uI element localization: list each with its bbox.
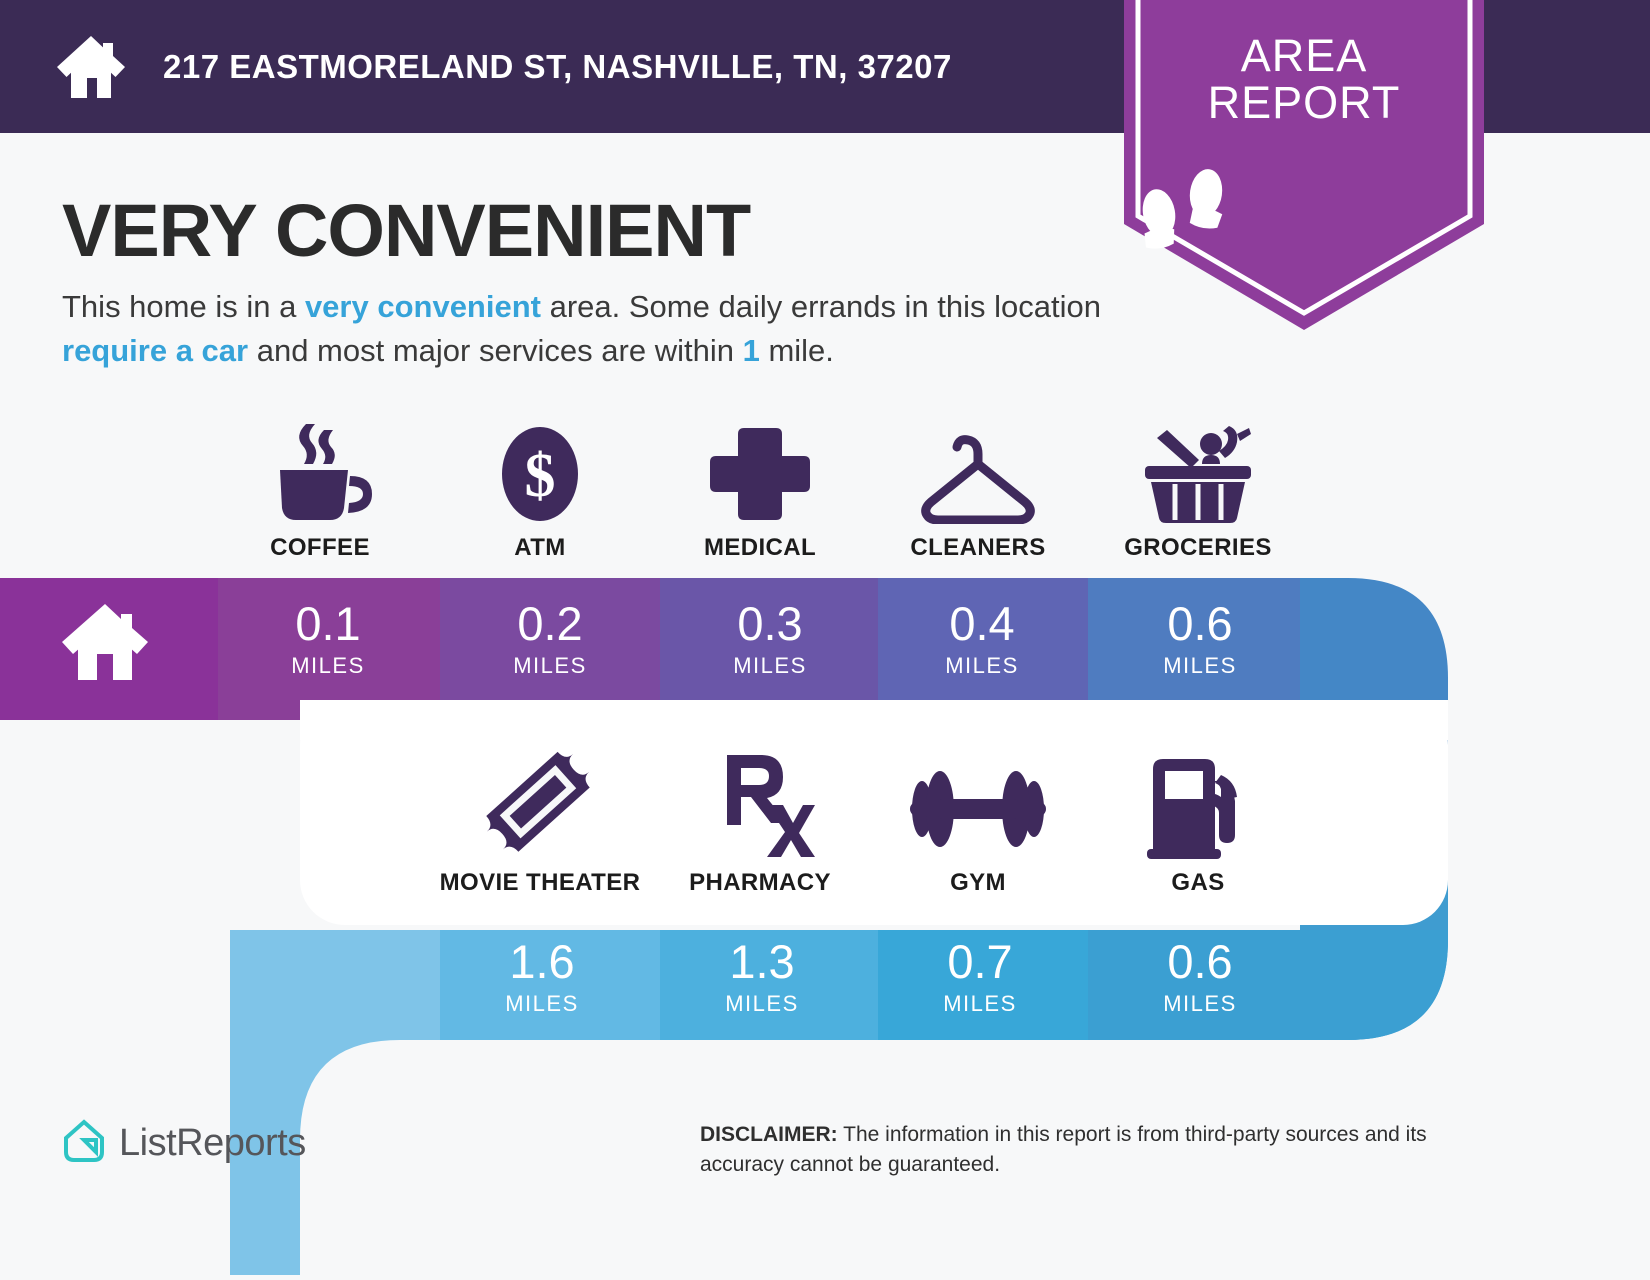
distance-groceries: 0.6 MILES	[1090, 600, 1310, 679]
summary-part-3: and most major services are within	[248, 333, 742, 368]
distance-gas: 0.6 MILES	[1090, 938, 1310, 1017]
amenity-label: MOVIE THEATER	[430, 869, 650, 897]
amenity-icons-row-1: COFFEE $ ATM MEDICAL CLEANERS	[0, 420, 1650, 570]
amenity-label: COFFEE	[210, 534, 430, 562]
listreports-logo-icon	[62, 1118, 106, 1169]
distance-unit: MILES	[432, 991, 652, 1017]
clothes-hanger-icon	[868, 420, 1088, 524]
summary-part-2: area. Some daily errands in this locatio…	[541, 289, 1101, 324]
amenity-icons-row-2: MOVIE THEATER PHARMACY	[0, 755, 1650, 905]
distance-unit: MILES	[1090, 653, 1310, 679]
rx-pharmacy-icon	[650, 755, 870, 859]
distance-value: 1.6	[432, 938, 652, 985]
amenity-cell-movie-theater: MOVIE THEATER	[430, 755, 650, 897]
gas-pump-icon	[1088, 755, 1308, 859]
distance-value: 0.3	[660, 600, 880, 647]
amenity-label: GAS	[1088, 869, 1308, 897]
listreports-logo-text: ListReports	[119, 1122, 306, 1165]
amenity-cell-atm: $ ATM	[430, 420, 650, 562]
summary-part-1: This home is in a	[62, 289, 305, 324]
distance-unit: MILES	[218, 653, 438, 679]
distance-cleaners: 0.4 MILES	[872, 600, 1092, 679]
summary-text: This home is in a very convenient area. …	[62, 285, 1107, 373]
distance-value: 0.1	[218, 600, 438, 647]
amenity-cell-groceries: GROCERIES	[1088, 420, 1308, 562]
distance-unit: MILES	[660, 653, 880, 679]
distance-unit: MILES	[870, 991, 1090, 1017]
medical-cross-icon	[650, 420, 870, 524]
amenity-label: PHARMACY	[650, 869, 870, 897]
amenity-cell-medical: MEDICAL	[650, 420, 870, 562]
coffee-cup-icon	[210, 420, 430, 524]
summary-highlight-1: very convenient	[305, 289, 541, 324]
footprints-icon	[1124, 159, 1484, 255]
summary-highlight-3: 1	[743, 333, 760, 368]
amenity-label: GROCERIES	[1088, 534, 1308, 562]
distance-value: 0.2	[440, 600, 660, 647]
amenity-cell-pharmacy: PHARMACY	[650, 755, 870, 897]
distance-coffee: 0.1 MILES	[218, 600, 438, 679]
distance-unit: MILES	[872, 653, 1092, 679]
home-marker-icon	[60, 602, 150, 687]
disclaimer: DISCLAIMER: The information in this repo…	[700, 1120, 1510, 1181]
home-icon	[55, 34, 127, 100]
amenity-label: MEDICAL	[650, 534, 870, 562]
distance-unit: MILES	[440, 653, 660, 679]
dollar-coin-icon: $	[430, 420, 650, 524]
distance-value: 0.6	[1090, 600, 1310, 647]
amenity-label: GYM	[868, 869, 1088, 897]
dumbbell-icon	[868, 755, 1088, 859]
summary-highlight-2: require a car	[62, 333, 248, 368]
listreports-logo: ListReports	[62, 1118, 306, 1169]
track-segment-tail	[230, 930, 440, 1275]
amenity-cell-coffee: COFFEE	[210, 420, 430, 562]
area-report-badge: AREA REPORT	[1124, 0, 1484, 330]
distance-medical: 0.3 MILES	[660, 600, 880, 679]
distance-value: 0.4	[872, 600, 1092, 647]
amenity-cell-gas: GAS	[1088, 755, 1308, 897]
distance-movie-theater: 1.6 MILES	[432, 938, 652, 1017]
property-address: 217 EASTMORELAND ST, NASHVILLE, TN, 3720…	[163, 48, 952, 86]
distance-atm: 0.2 MILES	[440, 600, 660, 679]
amenity-cell-cleaners: CLEANERS	[868, 420, 1088, 562]
amenity-label: CLEANERS	[868, 534, 1088, 562]
distance-gym: 0.7 MILES	[870, 938, 1090, 1017]
amenity-cell-gym: GYM	[868, 755, 1088, 897]
page-title: VERY CONVENIENT	[62, 188, 750, 273]
svg-text:$: $	[525, 442, 556, 510]
disclaimer-label: DISCLAIMER:	[700, 1123, 838, 1146]
movie-ticket-icon	[430, 755, 650, 859]
grocery-basket-icon	[1088, 420, 1308, 524]
distance-value: 0.7	[870, 938, 1090, 985]
summary-part-4: mile.	[760, 333, 834, 368]
distance-unit: MILES	[1090, 991, 1310, 1017]
distance-unit: MILES	[652, 991, 872, 1017]
distance-pharmacy: 1.3 MILES	[652, 938, 872, 1017]
track-segment-elbow2	[1300, 930, 1460, 1130]
distance-value: 1.3	[652, 938, 872, 985]
amenity-label: ATM	[430, 534, 650, 562]
distance-value: 0.6	[1090, 938, 1310, 985]
